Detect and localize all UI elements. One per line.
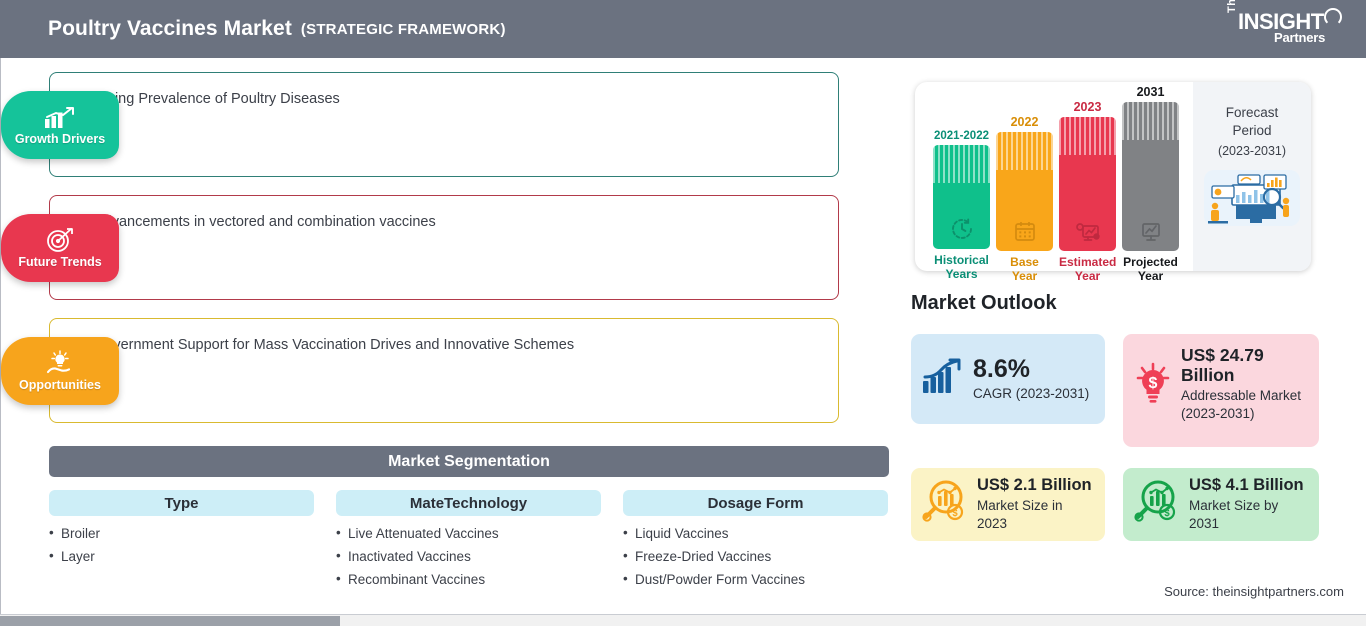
- outlook-value: US$ 4.1 Billion: [1189, 476, 1309, 494]
- timeline-caption: Base Year: [996, 256, 1053, 284]
- timeline-item-projected: 2031 Projected Year: [1122, 85, 1179, 284]
- page-title: Poultry Vaccines Market: [48, 17, 292, 41]
- forecast-period-panel: Forecast Period (2023-2031): [1193, 82, 1311, 271]
- segmentation-header-type: Type: [49, 490, 314, 516]
- caption-line-1: Estimated: [1059, 255, 1116, 269]
- outlook-value: US$ 24.79 Billion: [1181, 346, 1309, 385]
- timeline-year: 2023: [1059, 100, 1116, 114]
- content-frame: Rising Prevalence of Poultry Diseases Gr…: [0, 58, 1366, 614]
- timeline-caption: Historical Years: [933, 254, 990, 282]
- badge-label: Opportunities: [19, 378, 101, 392]
- list-item: Recombinant Vaccines: [336, 572, 616, 589]
- analytics-gear-icon: [1059, 219, 1116, 243]
- list-item: Broiler: [49, 526, 319, 543]
- outlook-card-addressable-market: $ US$ 24.79 Billion Addressable Market (…: [1123, 334, 1319, 447]
- outlook-value: US$ 2.1 Billion: [977, 476, 1095, 494]
- caption-line-2: Years: [945, 267, 977, 281]
- clock-history-icon: [933, 217, 990, 241]
- page-header: Poultry Vaccines Market (STRATEGIC FRAME…: [0, 0, 1366, 58]
- insight-partners-logo: The INSIGHT Partners: [1224, 7, 1344, 51]
- timeline-caption: Projected Year: [1122, 256, 1179, 284]
- timeline-year: 2021-2022: [933, 130, 990, 142]
- svg-text:$: $: [952, 508, 958, 519]
- hand-lightbulb-icon: [44, 350, 76, 376]
- presentation-chart-icon: [1122, 219, 1179, 243]
- bar-stripes: [1059, 117, 1116, 155]
- badge-future-trends[interactable]: Future Trends: [1, 214, 119, 282]
- timeline-year: 2031: [1122, 85, 1179, 99]
- list-item: Freeze-Dried Vaccines: [623, 549, 903, 566]
- badge-growth-drivers[interactable]: Growth Drivers: [1, 91, 119, 159]
- outlook-label: Addressable Market (2023-2031): [1181, 387, 1309, 423]
- badge-label: Growth Drivers: [15, 132, 105, 146]
- driver-box-future-trends: Advancements in vectored and combination…: [49, 195, 839, 300]
- caption-line-1: Projected: [1123, 255, 1178, 269]
- timeline-bar: [996, 132, 1053, 251]
- forecast-title-line-1: Forecast: [1226, 105, 1279, 120]
- target-dart-icon: [46, 227, 74, 253]
- logo-partners-text: Partners: [1274, 30, 1325, 45]
- outlook-label: CAGR (2023-2031): [973, 385, 1089, 403]
- list-item: Dust/Powder Form Vaccines: [623, 572, 903, 589]
- driver-bullet-text: Advancements in vectored and combination…: [94, 213, 436, 232]
- driver-box-growth-drivers: Rising Prevalence of Poultry Diseases: [49, 72, 839, 177]
- bar-chart-growth-icon: [43, 104, 77, 130]
- driver-bullet-text: Government Support for Mass Vaccination …: [94, 336, 574, 355]
- list-item: Layer: [49, 549, 319, 566]
- timeline-item-estimated: 2023 Estimated: [1059, 100, 1116, 284]
- caption-line-1: Historical: [934, 253, 989, 267]
- forecast-period-range: (2023-2031): [1193, 144, 1311, 158]
- market-timeline-panel: 2021-2022 Historical Years: [915, 82, 1311, 271]
- segmentation-list-technology: Live Attenuated Vaccines Inactivated Vac…: [336, 526, 616, 595]
- logo-the-text: The: [1226, 0, 1238, 13]
- badge-label: Future Trends: [18, 255, 101, 269]
- driver-box-opportunities: Government Support for Mass Vaccination …: [49, 318, 839, 423]
- timeline-item-base: 2022 Base Year: [996, 115, 1053, 284]
- svg-text:$: $: [1149, 375, 1158, 392]
- forecast-period-title: Forecast Period: [1193, 104, 1311, 140]
- logo-ring-icon: [1324, 8, 1342, 26]
- svg-text:$: $: [1164, 508, 1170, 519]
- timeline-item-historical: 2021-2022 Historical Years: [933, 130, 990, 282]
- timeline-bar: [1059, 117, 1116, 251]
- caption-line-2: Year: [1138, 269, 1163, 283]
- market-outlook-title: Market Outlook: [911, 292, 1057, 315]
- outlook-card-market-size-2031: $ US$ 4.1 Billion Market Size by 2031: [1123, 468, 1319, 541]
- timeline-bar: [933, 145, 990, 249]
- outlook-label: Market Size in 2023: [977, 497, 1095, 533]
- segmentation-list-dosage-form: Liquid Vaccines Freeze-Dried Vaccines Du…: [623, 526, 903, 595]
- segmentation-header-technology: MateTechnology: [336, 490, 601, 516]
- timeline-caption: Estimated Year: [1059, 256, 1116, 284]
- badge-opportunities[interactable]: Opportunities: [1, 337, 119, 405]
- caption-line-1: Base: [1010, 255, 1039, 269]
- list-item: Inactivated Vaccines: [336, 549, 616, 566]
- bar-chart-arrow-icon: [921, 357, 965, 402]
- infographic-page: Poultry Vaccines Market (STRATEGIC FRAME…: [0, 0, 1366, 626]
- driver-bullet-text: Rising Prevalence of Poultry Diseases: [94, 90, 340, 109]
- outlook-card-market-size-2023: $ US$ 2.1 Billion Market Size in 2023: [911, 468, 1105, 541]
- segmentation-title-text: Market Segmentation: [388, 453, 550, 471]
- segmentation-column-label: Dosage Form: [708, 495, 804, 512]
- page-subtitle: (STRATEGIC FRAMEWORK): [301, 21, 506, 38]
- segmentation-list-type: Broiler Layer: [49, 526, 319, 572]
- segmentation-column-label: MateTechnology: [410, 495, 527, 512]
- source-attribution: Source: theinsightpartners.com: [1164, 584, 1344, 599]
- calendar-icon: [996, 219, 1053, 243]
- magnifier-chart-dollar-icon: $: [921, 479, 969, 530]
- bar-stripes: [996, 132, 1053, 170]
- timeline-year: 2022: [996, 115, 1053, 129]
- forecast-title-line-2: Period: [1232, 123, 1271, 138]
- outlook-value: 8.6%: [973, 355, 1089, 383]
- list-item: Liquid Vaccines: [623, 526, 903, 543]
- caption-line-2: Year: [1075, 269, 1100, 283]
- bar-stripes: [1122, 102, 1179, 140]
- bar-stripes: [933, 145, 990, 183]
- horizontal-scrollbar-thumb[interactable]: [0, 616, 340, 626]
- outlook-card-cagr: 8.6% CAGR (2023-2031): [911, 334, 1105, 424]
- timeline-bars: 2021-2022 Historical Years: [929, 82, 1179, 271]
- lightbulb-dollar-icon: $: [1133, 362, 1173, 411]
- list-item: Live Attenuated Vaccines: [336, 526, 616, 543]
- market-segmentation-title: Market Segmentation: [49, 446, 889, 477]
- segmentation-column-label: Type: [165, 495, 199, 512]
- caption-line-2: Year: [1012, 269, 1037, 283]
- analytics-dashboard-illustration: [1193, 168, 1311, 235]
- horizontal-scrollbar[interactable]: [0, 614, 1366, 626]
- timeline-bar: [1122, 102, 1179, 251]
- outlook-label: Market Size by 2031: [1189, 497, 1309, 533]
- magnifier-chart-dollar-icon: $: [1133, 479, 1181, 530]
- segmentation-header-dosage-form: Dosage Form: [623, 490, 888, 516]
